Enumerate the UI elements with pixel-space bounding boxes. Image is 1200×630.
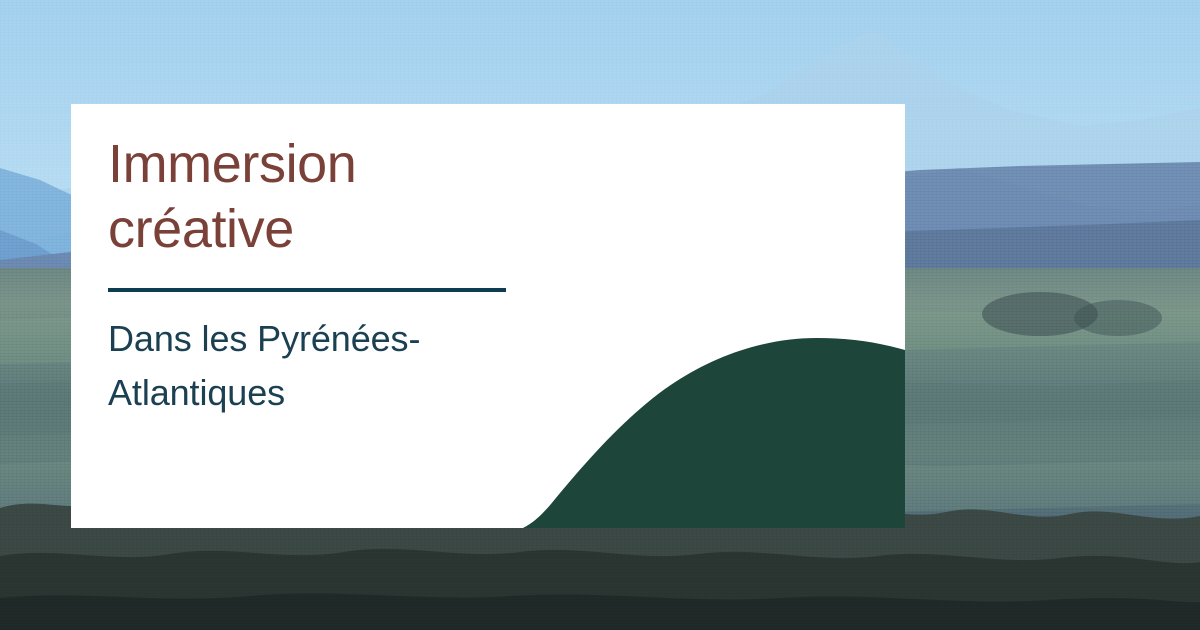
card-text-block: Immersion créative Dans les Pyrénées- At…: [108, 132, 578, 420]
title-divider: [108, 288, 506, 292]
banner-stage: Immersion créative Dans les Pyrénées- At…: [0, 0, 1200, 630]
content-card: Immersion créative Dans les Pyrénées- At…: [71, 104, 905, 528]
page-title: Immersion créative: [108, 132, 578, 262]
page-subtitle: Dans les Pyrénées- Atlantiques: [108, 312, 578, 420]
